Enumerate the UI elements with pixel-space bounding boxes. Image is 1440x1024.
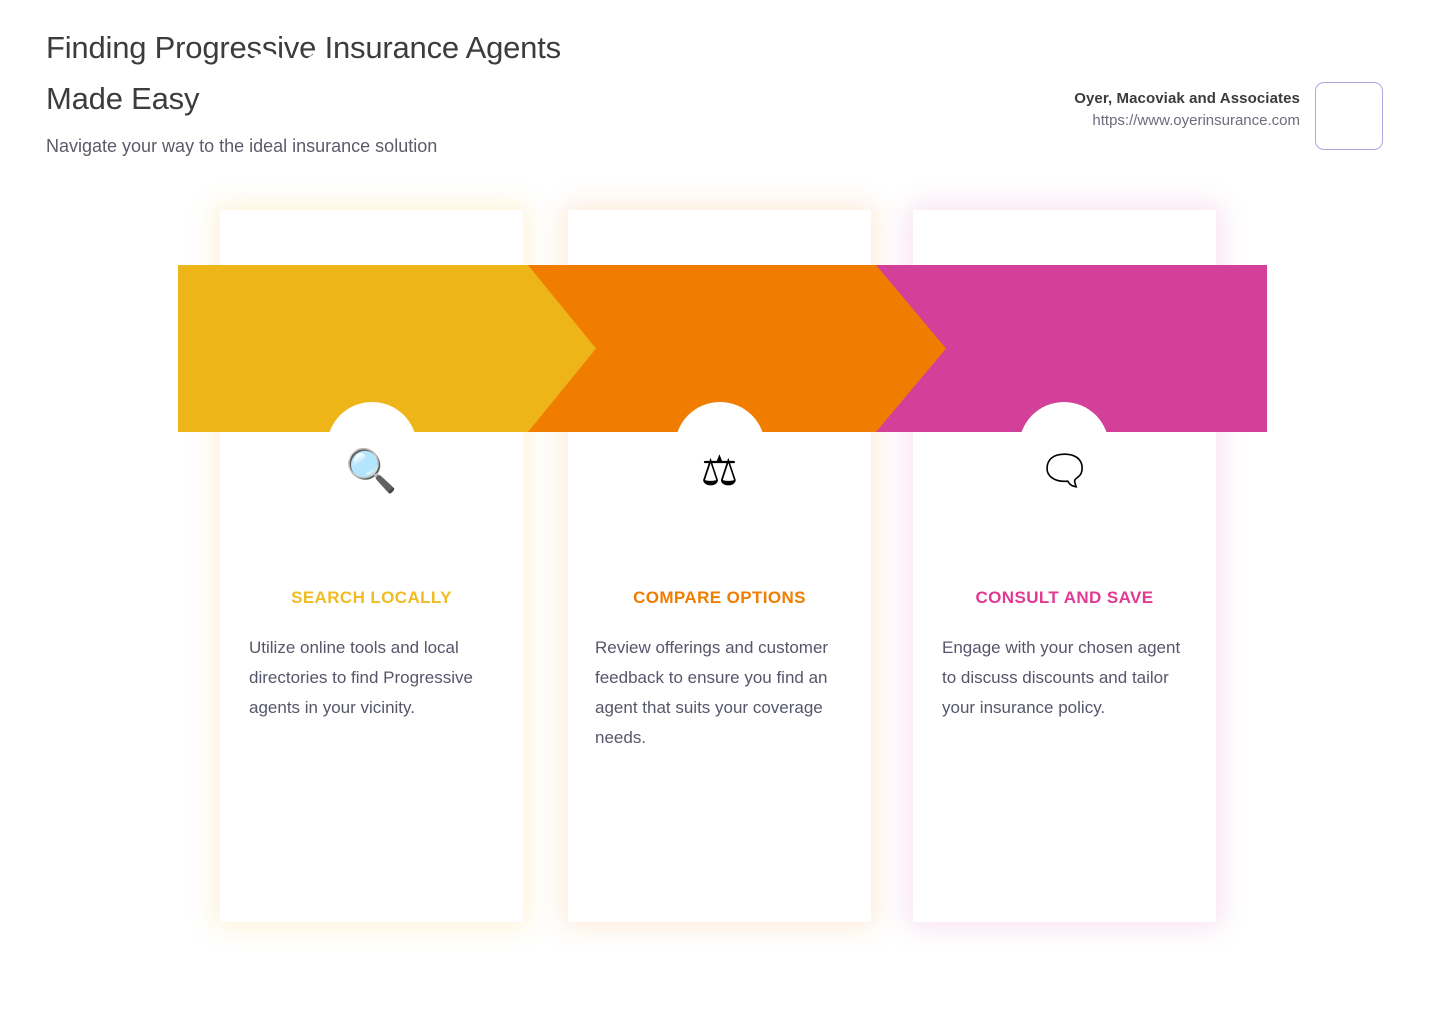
step-heading-1: SEARCH LOCALLY — [220, 586, 523, 610]
speech-balloon-icon: 🗨 — [913, 443, 1216, 499]
page-title: Finding Progressive Insurance Agents Mad… — [46, 22, 866, 124]
page-subtitle: Navigate your way to the ideal insurance… — [46, 134, 866, 158]
logo-placeholder — [1315, 82, 1383, 150]
step-heading-3: CONSULT AND SAVE — [913, 586, 1216, 610]
header-title-block: Finding Progressive Insurance Agents Mad… — [46, 22, 866, 158]
balance-scales-icon: ⚖ — [568, 443, 871, 499]
step-number-3: 03 — [884, 32, 1084, 136]
step-body-3: Engage with your chosen agent to discuss… — [942, 633, 1192, 723]
magnifying-glass-icon: 🔍 — [220, 443, 523, 499]
step-body-2: Review offerings and customer feedback t… — [595, 633, 845, 753]
step-body-1: Utilize online tools and local directori… — [249, 633, 499, 723]
step-number-1: 01 — [192, 32, 392, 136]
step-heading-2: COMPARE OPTIONS — [568, 586, 871, 610]
infographic-page: Finding Progressive Insurance Agents Mad… — [0, 0, 1440, 1024]
step-number-2: 02 — [540, 32, 740, 136]
